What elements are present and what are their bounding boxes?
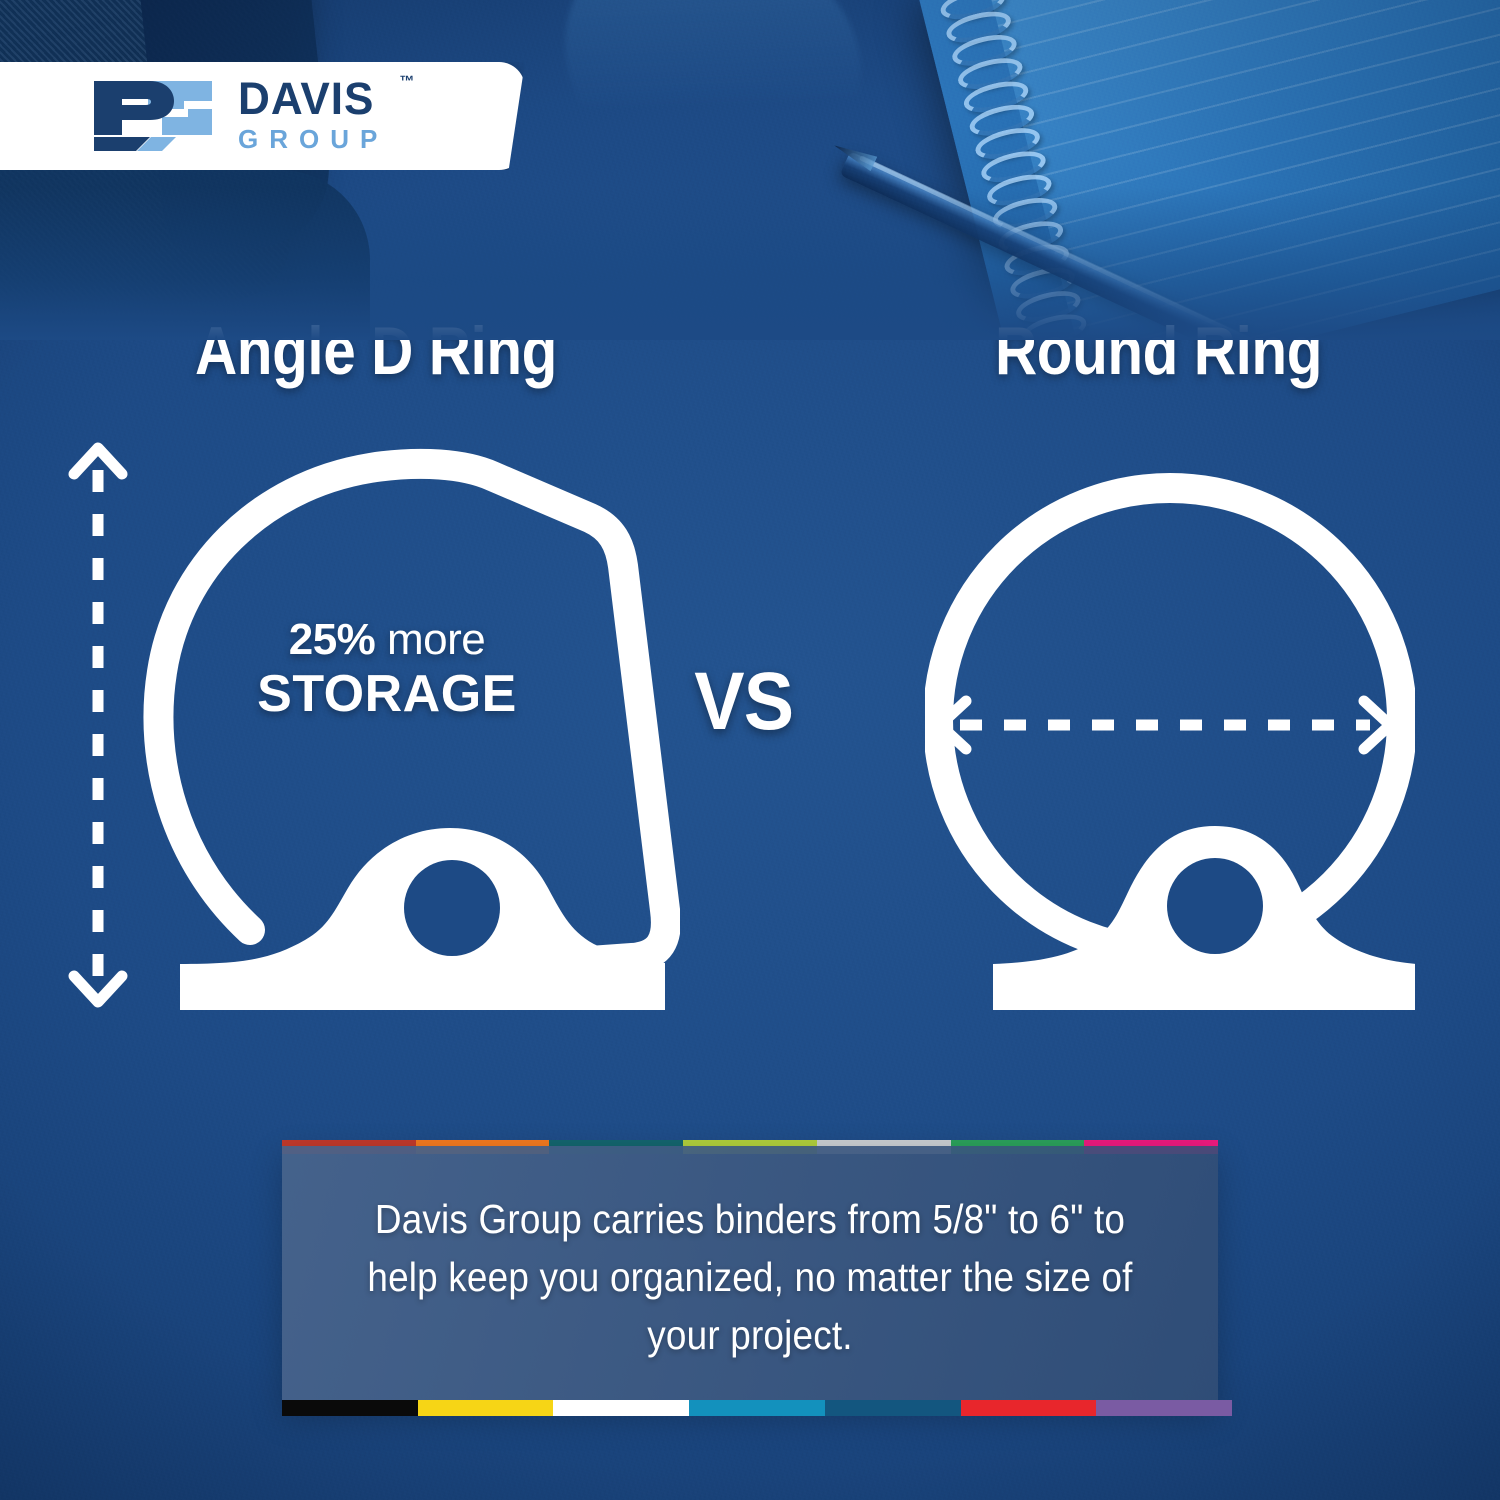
info-panel-message: Davis Group carries binders from 5/8" to…: [329, 1190, 1171, 1365]
storage-percent: 25%: [289, 615, 376, 664]
panel-bottom-color-bar: [282, 1400, 1232, 1416]
storage-callout-line2: STORAGE: [237, 668, 537, 720]
bottom-color-bar-segment: [553, 1400, 689, 1416]
bottom-color-bar-segment: [282, 1400, 418, 1416]
bottom-color-bar-segment: [825, 1400, 961, 1416]
bottom-color-bar-segment: [689, 1400, 825, 1416]
infographic-canvas: DAVIS ™ GROUP Angle D Ring Round Ring: [0, 0, 1500, 1500]
info-panel: Davis Group carries binders from 5/8" to…: [282, 1146, 1218, 1408]
photo-fade-overlay: [0, 0, 1500, 340]
horizontal-measure-arrow-icon: [930, 690, 1400, 765]
versus-label: VS: [694, 655, 793, 749]
bottom-color-bar-segment: [1096, 1400, 1232, 1416]
background-photo-desk: [0, 0, 1500, 340]
storage-callout: 25% more STORAGE: [237, 618, 537, 720]
angle-d-ring-diagram: [120, 440, 680, 1020]
storage-more-word: more: [375, 615, 485, 664]
bottom-color-bar-segment: [418, 1400, 554, 1416]
storage-callout-line1: 25% more: [237, 618, 537, 662]
bottom-color-bar-segment: [961, 1400, 1097, 1416]
